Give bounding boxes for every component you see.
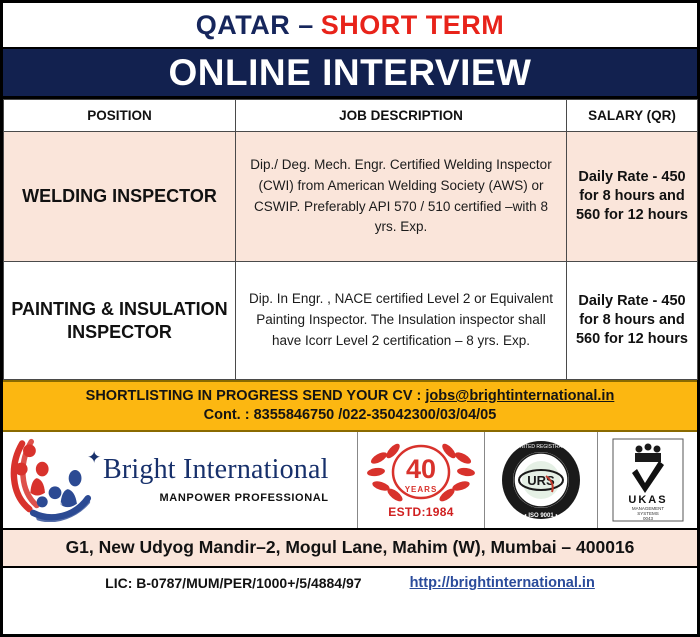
- address-text: G1, New Udyog Mandir–2, Mogul Lane, Mahi…: [66, 537, 635, 557]
- country-title-bar: QATAR – SHORT TERM: [3, 3, 697, 49]
- company-tagline: MANPOWER PROFESSIONAL: [103, 492, 329, 504]
- country-label: QATAR –: [196, 10, 314, 41]
- company-name: Bright International: [103, 456, 329, 484]
- website-link[interactable]: http://brightinternational.in: [410, 575, 595, 591]
- urs-iso-seal-icon: URS UNITED REGISTRAR • ISO 9001 •: [500, 439, 582, 521]
- column-header-position: POSITION: [4, 100, 236, 132]
- salary-cell: Daily Rate - 450 for 8 hours and 560 for…: [567, 262, 698, 380]
- office-address: G1, New Udyog Mandir–2, Mogul Lane, Mahi…: [3, 530, 697, 568]
- headline-bar: ONLINE INTERVIEW: [3, 49, 697, 99]
- term-label: SHORT TERM: [321, 10, 505, 41]
- svg-text:• ISO 9001 •: • ISO 9001 •: [525, 513, 558, 519]
- contact-banner: SHORTLISTING IN PROGRESS SEND YOUR CV : …: [3, 380, 697, 432]
- column-header-salary: SALARY (QR): [567, 100, 698, 132]
- ukas-crown-tick-icon: UKAS MANAGEMENT SYSTEMS 0043: [605, 437, 691, 523]
- svg-text:40: 40: [406, 454, 436, 484]
- svg-text:UNITED REGISTRAR: UNITED REGISTRAR: [516, 444, 566, 450]
- position-cell: WELDING INSPECTOR: [4, 132, 236, 262]
- email-link[interactable]: jobs@brightinternational.in: [425, 388, 614, 404]
- established-year: ESTD:1984: [388, 505, 453, 519]
- job-advertisement: QATAR – SHORT TERM ONLINE INTERVIEW POSI…: [0, 0, 700, 637]
- shortlisting-text: SHORTLISTING IN PROGRESS SEND YOUR CV :: [86, 388, 426, 404]
- description-cell: Dip. In Engr. , NACE certified Level 2 o…: [236, 262, 567, 380]
- phone-line: Cont. : 8355846750 /022-35042300/03/04/0…: [3, 407, 697, 423]
- anniversary-badge: 40 YEARS ESTD:1984: [358, 432, 485, 528]
- column-header-description: JOB DESCRIPTION: [236, 100, 567, 132]
- table-row: WELDING INSPECTOR Dip./ Deg. Mech. Engr.…: [4, 132, 698, 262]
- position-cell: PAINTING & INSULATION INSPECTOR: [4, 262, 236, 380]
- table-row: PAINTING & INSULATION INSPECTOR Dip. In …: [4, 262, 698, 380]
- svg-text:YEARS: YEARS: [405, 485, 438, 494]
- vacancy-table: POSITION JOB DESCRIPTION SALARY (QR) WEL…: [3, 99, 698, 380]
- brand-strip: ✦ Bright International MANPOWER PROFESSI…: [3, 432, 697, 530]
- svg-text:0043: 0043: [642, 516, 653, 521]
- table-header-row: POSITION JOB DESCRIPTION SALARY (QR): [4, 100, 698, 132]
- sparkle-icon: ✦: [87, 448, 101, 468]
- headline-text: ONLINE INTERVIEW: [169, 52, 532, 94]
- iso-certification-badge: URS UNITED REGISTRAR • ISO 9001 •: [485, 432, 598, 528]
- ukas-accreditation-badge: UKAS MANAGEMENT SYSTEMS 0043: [598, 432, 697, 528]
- company-logo: ✦ Bright International MANPOWER PROFESSI…: [3, 432, 358, 528]
- license-row: LIC: B-0787/MUM/PER/1000+/5/4884/97 http…: [3, 568, 697, 599]
- license-number: LIC: B-0787/MUM/PER/1000+/5/4884/97: [105, 575, 361, 591]
- description-cell: Dip./ Deg. Mech. Engr. Certified Welding…: [236, 132, 567, 262]
- laurel-wreath-icon: 40 YEARS: [365, 442, 477, 504]
- svg-text:UKAS: UKAS: [628, 494, 667, 506]
- shortlisting-line: SHORTLISTING IN PROGRESS SEND YOUR CV : …: [3, 388, 697, 404]
- salary-cell: Daily Rate - 450 for 8 hours and 560 for…: [567, 132, 698, 262]
